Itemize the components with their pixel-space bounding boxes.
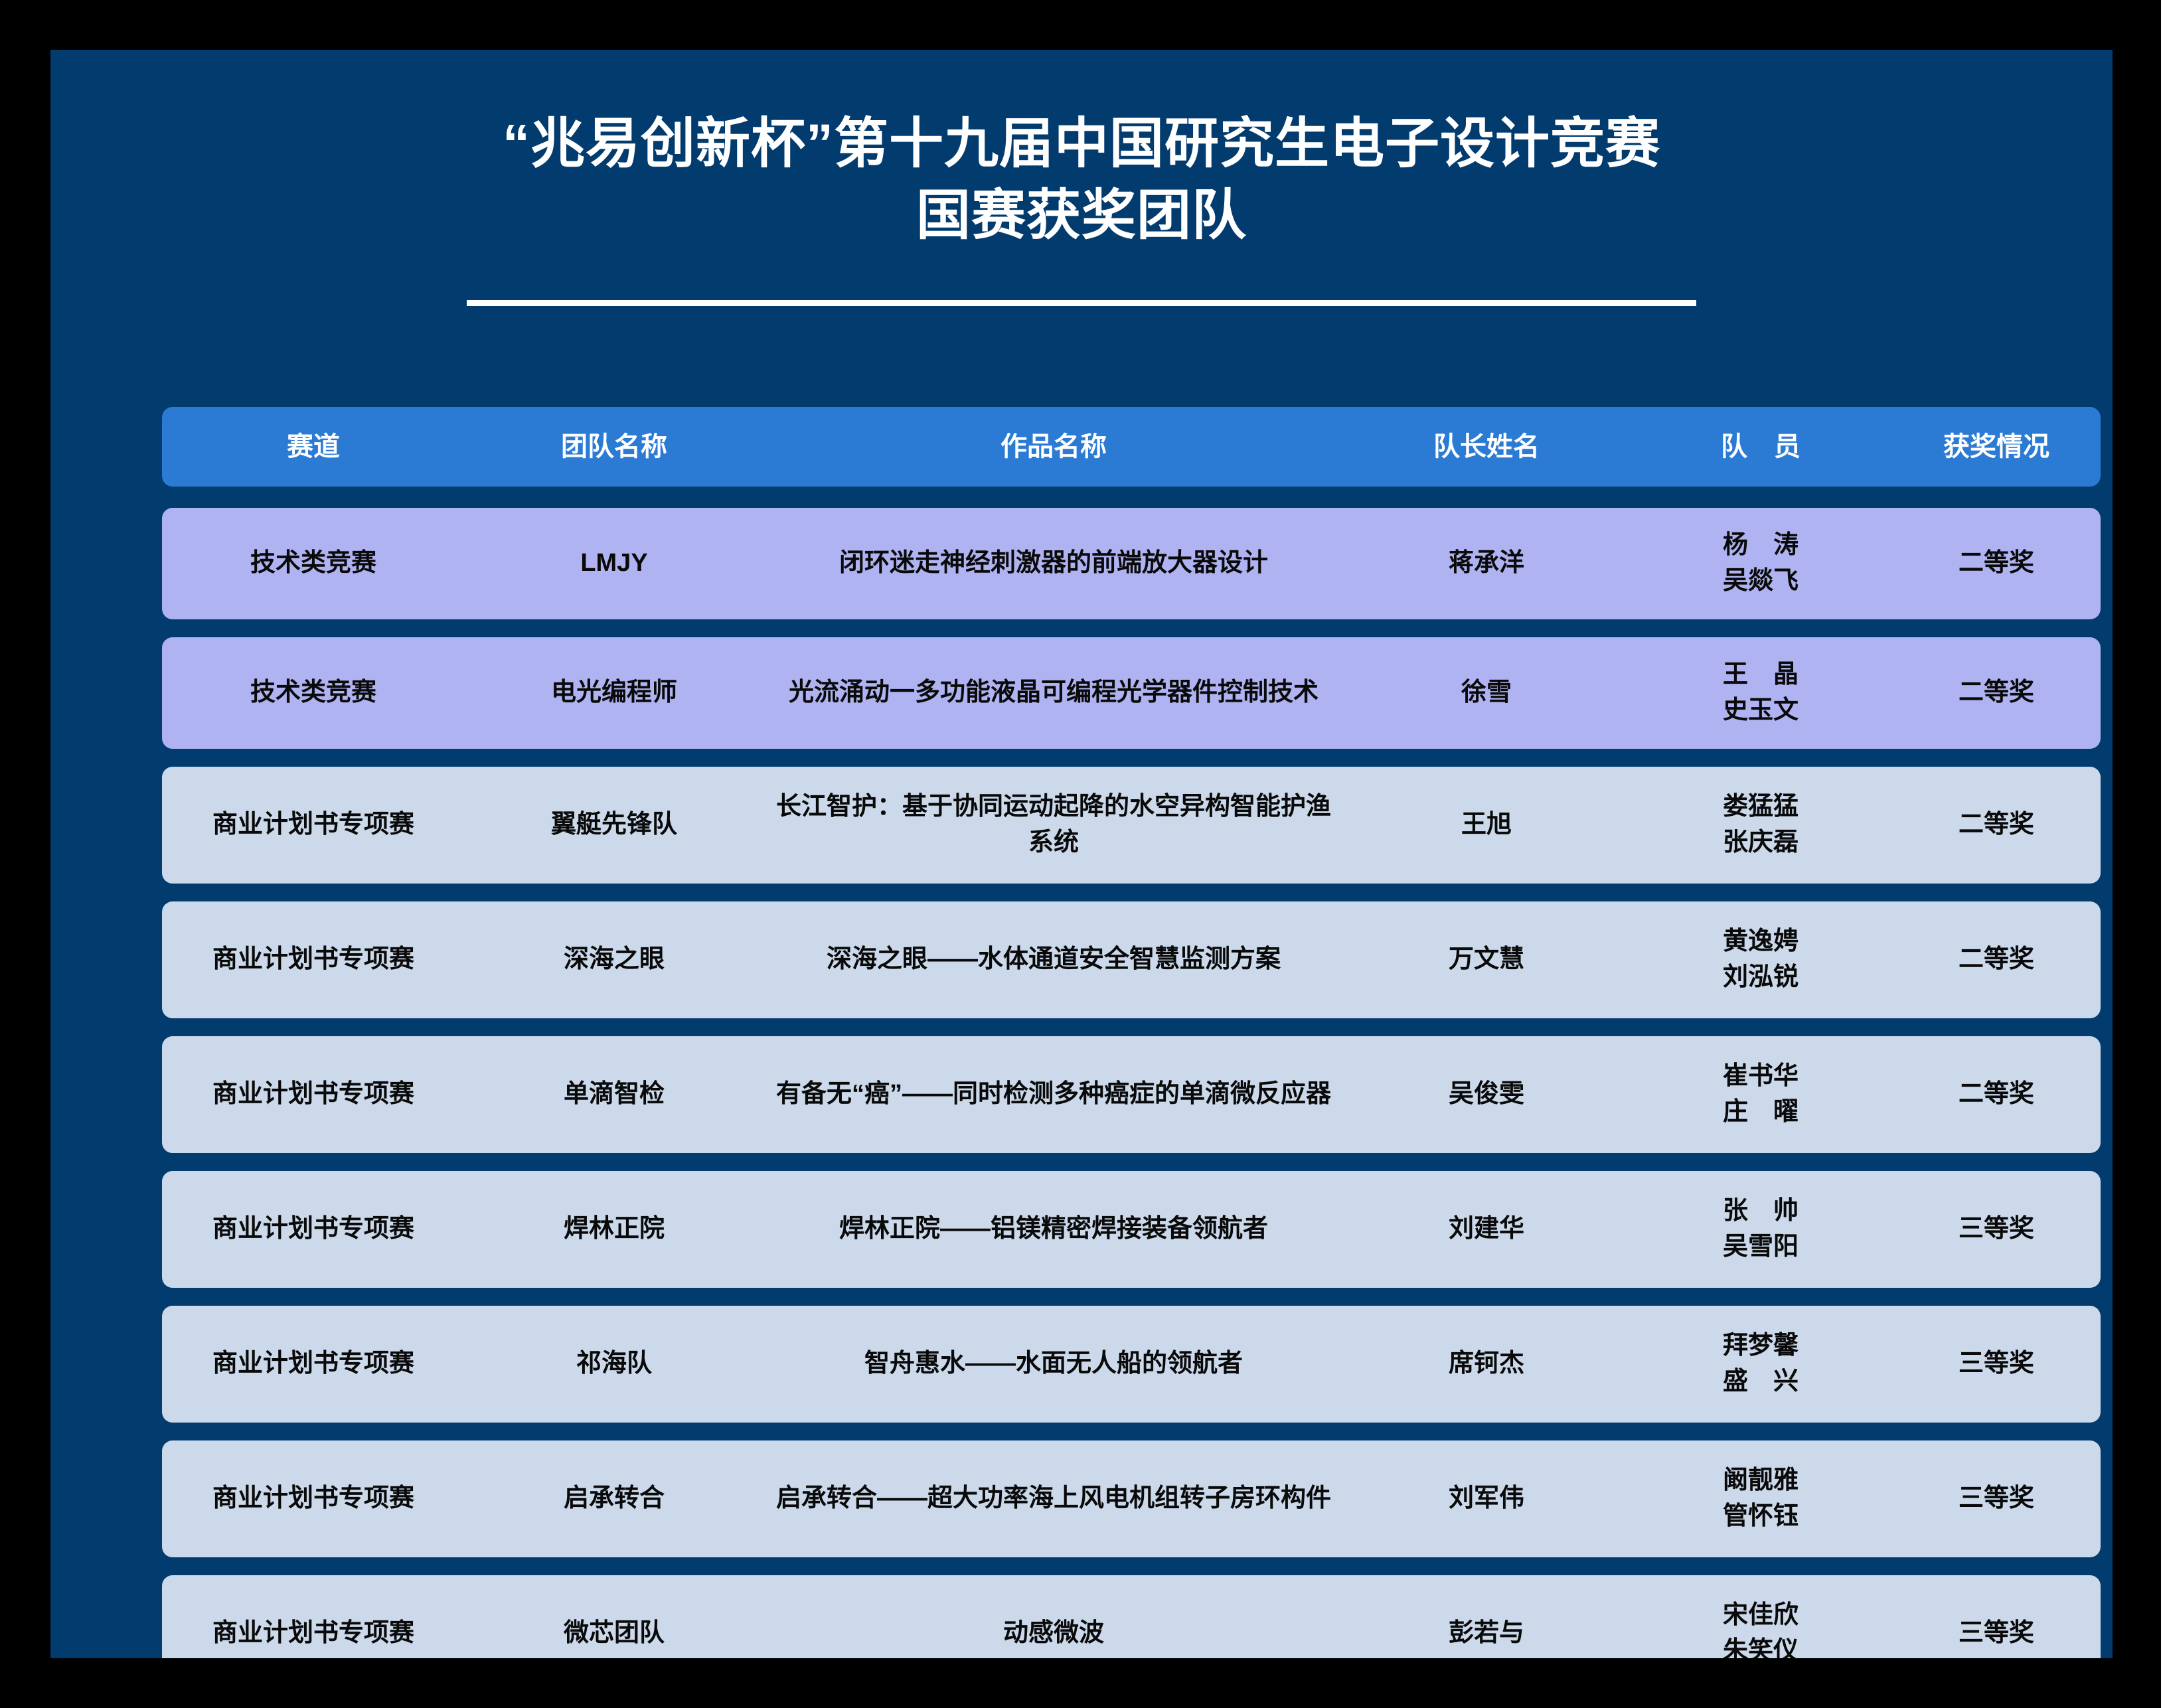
cell-award-line: 三等奖 (1959, 1619, 2034, 1647)
cell-track: 技术类竞赛 (162, 675, 465, 711)
table-row: 商业计划书专项赛单滴智检有备无“癌”——同时检测多种癌症的单滴微反应器吴俊雯崔书… (162, 1036, 2101, 1153)
cell-work-line: 长江智护：基于协同运动起降的水空异 (776, 793, 1205, 820)
column-header-track: 赛道 (162, 431, 465, 463)
cell-track-line: 商业计划书专 (212, 811, 364, 838)
awards-table: 赛道 团队名称 作品名称 队长姓名 队 员 获奖情况 技术类竞赛LMJY闭环迷走… (162, 407, 2101, 1658)
cell-team: 启承转合 (465, 1481, 763, 1517)
cell-leader-line: 席钶杰 (1449, 1350, 1524, 1377)
cell-leader-line: 蒋承洋 (1449, 549, 1524, 577)
cell-team-line: 电光编程师 (551, 678, 677, 706)
cell-track-line: 技术类竞赛 (250, 678, 376, 706)
cell-leader-line: 吴俊雯 (1449, 1080, 1524, 1108)
page-title-line-2: 国赛获奖团队 (50, 180, 2113, 252)
cell-track: 商业计划书专项赛 (162, 1211, 465, 1247)
cell-leader-line: 王旭 (1461, 811, 1512, 838)
cell-work: 长江智护：基于协同运动起降的水空异构智能护渔系统 (763, 789, 1344, 861)
cell-leader: 王旭 (1344, 807, 1629, 843)
cell-work-line: 光流涌动一多功能液晶可编程光学器件 (789, 678, 1218, 706)
cell-team: 深海之眼 (465, 942, 763, 978)
cell-members: 杨 涛吴燚飞 (1629, 528, 1892, 599)
cell-award-line: 三等奖 (1959, 1484, 2034, 1512)
cell-award-line: 二等奖 (1959, 1080, 2034, 1108)
cell-team: 微芯团队 (465, 1616, 763, 1652)
cell-track: 技术类竞赛 (162, 546, 465, 582)
cell-leader: 蒋承洋 (1344, 546, 1629, 582)
cell-members: 黄逸娉刘泓锐 (1629, 924, 1892, 996)
cell-team: 电光编程师 (465, 675, 763, 711)
cell-work-line: 智舟惠水——水面无人船的领航者 (864, 1350, 1243, 1377)
cell-track: 商业计划书专项赛 (162, 1616, 465, 1652)
cell-members-line: 黄逸娉 (1633, 924, 1888, 960)
cell-track: 商业计划书专项赛 (162, 1077, 465, 1113)
cell-award: 二等奖 (1892, 942, 2101, 978)
cell-track-line: 技术类竞赛 (250, 549, 376, 577)
cell-track-line: 商业计划书专 (212, 1484, 364, 1512)
cell-work: 有备无“癌”——同时检测多种癌症的单滴微反应器 (763, 1077, 1344, 1113)
cell-track-line: 商业计划书专 (212, 1080, 364, 1108)
cell-team-line: LMJY (580, 549, 647, 577)
cell-track-line: 项赛 (364, 1350, 414, 1377)
cell-track-line: 商业计划书专 (212, 945, 364, 973)
column-header-award: 获奖情况 (1892, 431, 2101, 463)
cell-members: 王 晶史玉文 (1629, 657, 1892, 729)
cell-team: 焊林正院 (465, 1211, 763, 1247)
cell-members-line: 宋佳欣 (1633, 1598, 1888, 1634)
cell-work: 闭环迷走神经刺激器的前端放大器设计 (763, 546, 1344, 582)
title-block: “兆易创新杯”第十九届中国研究生电子设计竞赛 国赛获奖团队 (50, 50, 2113, 306)
cell-leader: 吴俊雯 (1344, 1077, 1629, 1113)
cell-work: 启承转合——超大功率海上风电机组转子房环构件 (763, 1481, 1344, 1517)
cell-track-line: 商业计划书专 (212, 1215, 364, 1243)
cell-work: 智舟惠水——水面无人船的领航者 (763, 1346, 1344, 1382)
table-row: 商业计划书专项赛深海之眼深海之眼——水体通道安全智慧监测方案万文慧黄逸娉刘泓锐二… (162, 901, 2101, 1018)
cell-members: 张 帅吴雪阳 (1629, 1194, 1892, 1265)
cell-members-line: 拜梦馨 (1633, 1328, 1888, 1364)
cell-members-line: 史玉文 (1633, 693, 1888, 729)
cell-award-line: 二等奖 (1959, 678, 2034, 706)
cell-work-line: 智慧监测方案 (1129, 945, 1281, 973)
cell-leader: 彭若与 (1344, 1616, 1629, 1652)
cell-award: 三等奖 (1892, 1346, 2101, 1382)
cell-work-line: 焊林正院——铝镁精密焊接装备领航者 (839, 1215, 1268, 1243)
cell-members-line: 张 帅 (1633, 1194, 1888, 1229)
title-divider (467, 300, 1696, 306)
cell-track-line: 项赛 (364, 945, 414, 973)
table-row: 商业计划书专项赛微芯团队动感微波彭若与宋佳欣朱笑仪三等奖 (162, 1575, 2101, 1658)
cell-work-line: 控制技术 (1218, 678, 1319, 706)
cell-leader: 席钶杰 (1344, 1346, 1629, 1382)
cell-work-line: 动感微波 (1003, 1619, 1104, 1647)
cell-members-line: 杨 涛 (1633, 528, 1888, 564)
cell-award-line: 三等奖 (1959, 1215, 2034, 1243)
cell-team: 翼艇先锋队 (465, 807, 763, 843)
cell-team: 单滴智检 (465, 1077, 763, 1113)
cell-team-line: 翼艇先锋队 (551, 811, 677, 838)
cell-work-line: 深海之眼——水体通道安全 (827, 945, 1129, 973)
column-header-work: 作品名称 (763, 431, 1344, 463)
cell-track-line: 项赛 (364, 1484, 414, 1512)
cell-members-line: 阚靓雅 (1633, 1463, 1888, 1499)
cell-work-line: 滴微反应器 (1205, 1080, 1331, 1108)
cell-leader-line: 刘军伟 (1449, 1484, 1524, 1512)
cell-track-line: 商业计划书专 (212, 1350, 364, 1377)
cell-team-line: 微芯团队 (564, 1619, 665, 1647)
cell-work-line: 闭环迷走神经刺激器的前端放大器设计 (839, 549, 1268, 577)
cell-leader: 徐雪 (1344, 675, 1629, 711)
column-header-leader: 队长姓名 (1344, 431, 1629, 463)
cell-members-line: 崔书华 (1633, 1059, 1888, 1095)
cell-members: 阚靓雅管怀钰 (1629, 1463, 1892, 1535)
cell-work: 光流涌动一多功能液晶可编程光学器件控制技术 (763, 675, 1344, 711)
cell-leader: 万文慧 (1344, 942, 1629, 978)
cell-award-line: 二等奖 (1959, 549, 2034, 577)
cell-track: 商业计划书专项赛 (162, 942, 465, 978)
cell-members-line: 刘泓锐 (1633, 960, 1888, 996)
cell-work: 焊林正院——铝镁精密焊接装备领航者 (763, 1211, 1344, 1247)
cell-award: 二等奖 (1892, 1077, 2101, 1113)
cell-members-line: 朱笑仪 (1633, 1634, 1888, 1658)
cell-award: 三等奖 (1892, 1211, 2101, 1247)
cell-team-line: 启承转合 (564, 1484, 665, 1512)
cell-work-line: 有备无“癌”——同时检测多种癌症的单 (776, 1080, 1205, 1108)
slide-canvas: “兆易创新杯”第十九届中国研究生电子设计竞赛 国赛获奖团队 赛道 团队名称 作品… (50, 50, 2113, 1658)
table-row: 商业计划书专项赛祁海队智舟惠水——水面无人船的领航者席钶杰拜梦馨盛 兴三等奖 (162, 1306, 2101, 1423)
cell-award: 二等奖 (1892, 675, 2101, 711)
cell-team-line: 单滴智检 (564, 1080, 665, 1108)
cell-team: LMJY (465, 546, 763, 582)
cell-track-line: 项赛 (364, 1215, 414, 1243)
cell-members: 拜梦馨盛 兴 (1629, 1328, 1892, 1400)
cell-members: 宋佳欣朱笑仪 (1629, 1598, 1892, 1658)
cell-track: 商业计划书专项赛 (162, 1346, 465, 1382)
table-row: 技术类竞赛LMJY闭环迷走神经刺激器的前端放大器设计蒋承洋杨 涛吴燚飞二等奖 (162, 508, 2101, 619)
cell-track-line: 项赛 (364, 1619, 414, 1647)
cell-work-line: 转子房环构件 (1180, 1484, 1331, 1512)
cell-work: 动感微波 (763, 1616, 1344, 1652)
cell-work-line: 启承转合——超大功率海上风电机组 (776, 1484, 1180, 1512)
page-title-line-1: “兆易创新杯”第十九届中国研究生电子设计竞赛 (50, 108, 2113, 180)
cell-team-line: 深海之眼 (564, 945, 665, 973)
cell-leader: 刘军伟 (1344, 1481, 1629, 1517)
cell-award: 三等奖 (1892, 1481, 2101, 1517)
cell-leader-line: 徐雪 (1461, 678, 1512, 706)
table-row: 商业计划书专项赛启承转合启承转合——超大功率海上风电机组转子房环构件刘军伟阚靓雅… (162, 1440, 2101, 1557)
cell-work: 深海之眼——水体通道安全智慧监测方案 (763, 942, 1344, 978)
cell-team: 祁海队 (465, 1346, 763, 1382)
cell-leader: 刘建华 (1344, 1211, 1629, 1247)
cell-members-line: 娄猛猛 (1633, 789, 1888, 825)
cell-leader-line: 彭若与 (1449, 1619, 1524, 1647)
cell-members-line: 张庆磊 (1633, 825, 1888, 861)
cell-award: 二等奖 (1892, 546, 2101, 582)
table-row: 商业计划书专项赛焊林正院焊林正院——铝镁精密焊接装备领航者刘建华张 帅吴雪阳三等… (162, 1171, 2101, 1288)
cell-award: 二等奖 (1892, 807, 2101, 843)
cell-track-line: 项赛 (364, 811, 414, 838)
table-row: 技术类竞赛电光编程师光流涌动一多功能液晶可编程光学器件控制技术徐雪王 晶史玉文二… (162, 637, 2101, 749)
cell-members: 娄猛猛张庆磊 (1629, 789, 1892, 861)
cell-members-line: 吴燚飞 (1633, 564, 1888, 599)
cell-award-line: 二等奖 (1959, 811, 2034, 838)
cell-track-line: 商业计划书专 (212, 1619, 364, 1647)
cell-award-line: 二等奖 (1959, 945, 2034, 973)
table-row: 商业计划书专项赛翼艇先锋队长江智护：基于协同运动起降的水空异构智能护渔系统王旭娄… (162, 767, 2101, 884)
cell-track: 商业计划书专项赛 (162, 1481, 465, 1517)
cell-award-line: 三等奖 (1959, 1350, 2034, 1377)
table-body: 技术类竞赛LMJY闭环迷走神经刺激器的前端放大器设计蒋承洋杨 涛吴燚飞二等奖技术… (162, 508, 2101, 1658)
cell-members-line: 王 晶 (1633, 657, 1888, 693)
cell-members-line: 盛 兴 (1633, 1364, 1888, 1400)
cell-members: 崔书华庄 曜 (1629, 1059, 1892, 1130)
cell-team-line: 祁海队 (576, 1350, 652, 1377)
cell-track-line: 项赛 (364, 1080, 414, 1108)
column-header-team: 团队名称 (465, 431, 763, 463)
cell-track: 商业计划书专项赛 (162, 807, 465, 843)
table-header-row: 赛道 团队名称 作品名称 队长姓名 队 员 获奖情况 (162, 407, 2101, 487)
cell-leader-line: 刘建华 (1449, 1215, 1524, 1243)
cell-award: 三等奖 (1892, 1616, 2101, 1652)
cell-members-line: 吴雪阳 (1633, 1229, 1888, 1265)
cell-leader-line: 万文慧 (1449, 945, 1524, 973)
column-header-members: 队 员 (1629, 431, 1892, 463)
cell-team-line: 焊林正院 (564, 1215, 665, 1243)
cell-members-line: 庄 曜 (1633, 1095, 1888, 1130)
cell-members-line: 管怀钰 (1633, 1499, 1888, 1535)
